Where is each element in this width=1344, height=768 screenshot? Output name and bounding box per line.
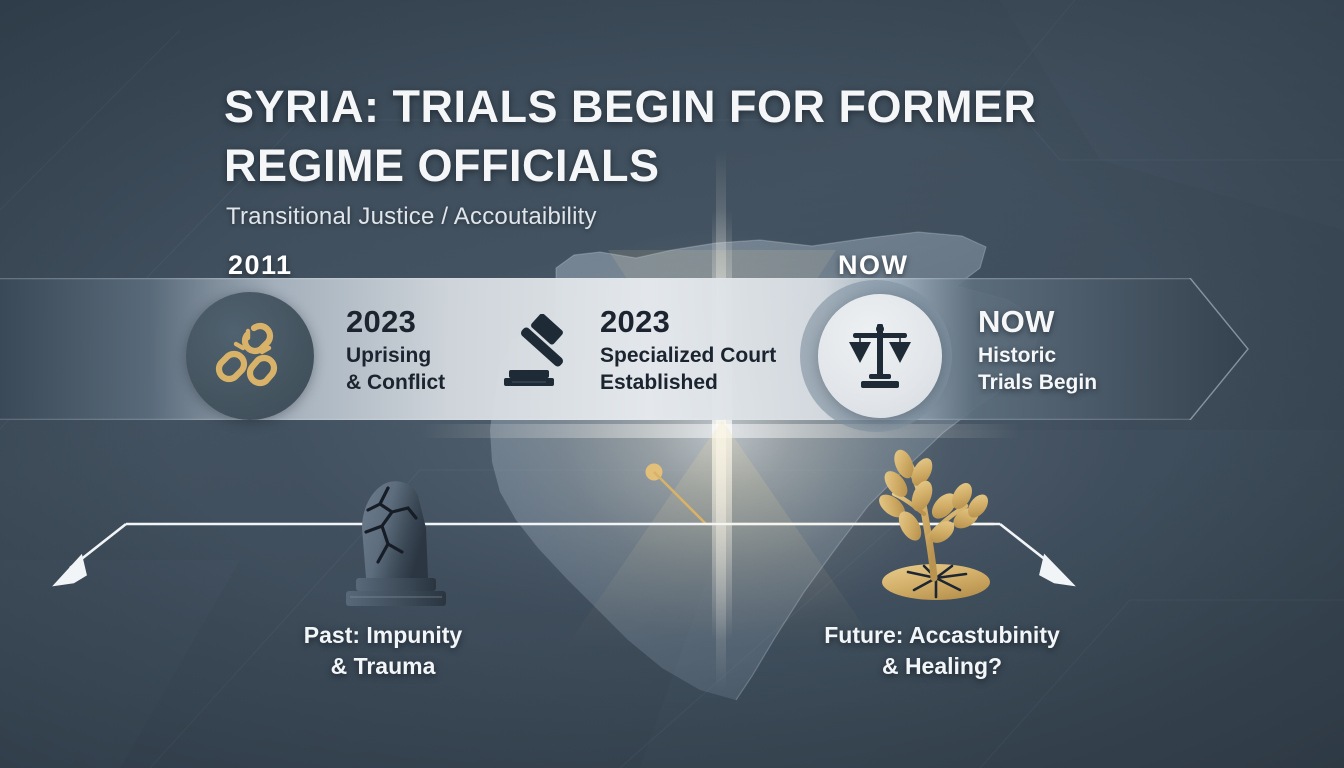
milestone-3-year: NOW [978, 306, 1097, 339]
timeline-milestone-2: 2023 Specialized Court Established [600, 306, 776, 396]
branch-label-future: Future: Accastubinity & Healing? [762, 620, 1122, 682]
header-block: SYRIA: TRIALS BEGIN FOR FORMER REGIME OF… [224, 78, 1104, 231]
scales-of-justice-icon [845, 320, 915, 392]
branch-future-line1: Future: Accastubinity [762, 620, 1122, 651]
branch-past-line2: & Trauma [203, 651, 563, 682]
milestone-2-year: 2023 [600, 306, 776, 339]
gavel-icon [498, 314, 582, 398]
milestone-3-desc-line2: Trials Begin [978, 369, 1097, 396]
cracked-stone-monument-icon [336, 470, 456, 614]
timeline-era-start-label: 2011 [228, 250, 293, 281]
branch-past-line1: Past: Impunity [203, 620, 563, 651]
milestone-1-desc-line2: & Conflict [346, 369, 445, 396]
broken-chain-icon [212, 318, 288, 394]
branch-label-past: Past: Impunity & Trauma [203, 620, 563, 682]
timeline-milestone-3: NOW Historic Trials Begin [978, 306, 1097, 396]
page-subtitle: Transitional Justice / Accoutaibility [226, 203, 1104, 231]
infographic-canvas: SYRIA: TRIALS BEGIN FOR FORMER REGIME OF… [0, 0, 1344, 768]
milestone-1-year: 2023 [346, 306, 445, 339]
milestone-2-desc-line2: Established [600, 369, 776, 396]
milestone-2-desc-line1: Specialized Court [600, 342, 776, 369]
sapling-in-cracked-earth-icon [866, 448, 1006, 608]
timeline-milestone-1: 2023 Uprising & Conflict [346, 306, 445, 396]
branch-future-line2: & Healing? [762, 651, 1122, 682]
milestone-1-desc-line1: Uprising [346, 342, 445, 369]
page-title: SYRIA: TRIALS BEGIN FOR FORMER REGIME OF… [224, 78, 1104, 195]
branch-connectors [0, 420, 1344, 650]
timeline-era-end-label: NOW [838, 250, 908, 281]
milestone-3-desc-line1: Historic [978, 342, 1097, 369]
